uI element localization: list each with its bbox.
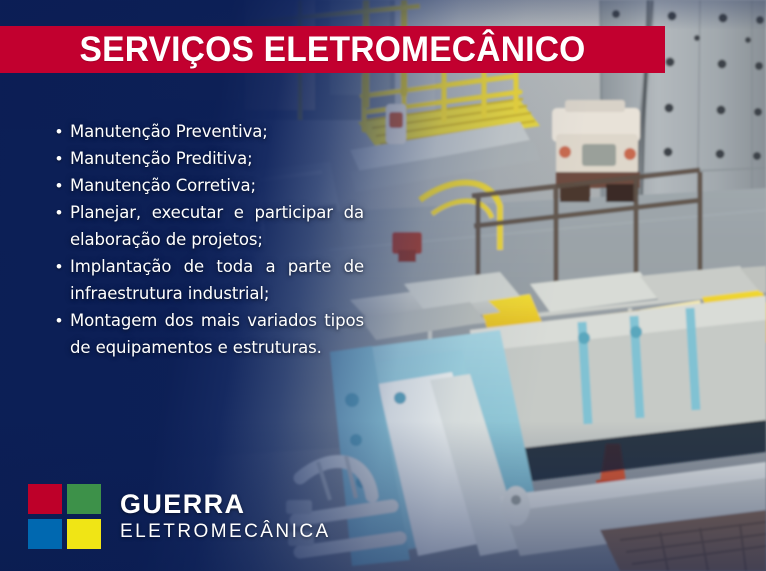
bullet-dot-icon: • bbox=[56, 118, 70, 145]
bullet-dot-icon: • bbox=[56, 307, 70, 334]
list-item: • Planejar, executar e participar da ela… bbox=[56, 199, 364, 253]
logo-squares bbox=[28, 484, 101, 549]
title-banner: SERVIÇOS ELETROMECÂNICO bbox=[0, 26, 665, 73]
logo-square-red bbox=[28, 484, 62, 514]
list-item: • Manutenção Corretiva; bbox=[56, 172, 364, 199]
list-item-label: Manutenção Corretiva; bbox=[70, 172, 364, 199]
list-item: • Manutenção Preditiva; bbox=[56, 145, 364, 172]
logo-wordmark: GUERRA ELETROMECÂNICA bbox=[120, 489, 331, 545]
list-item: • Implantação de toda a parte de infraes… bbox=[56, 253, 364, 307]
logo-square-green bbox=[67, 484, 101, 514]
services-list: • Manutenção Preventiva; • Manutenção Pr… bbox=[56, 118, 364, 361]
page-title: SERVIÇOS ELETROMECÂNICO bbox=[13, 26, 651, 73]
logo-square-yellow bbox=[67, 519, 101, 549]
presentation-slide: SERVIÇOS ELETROMECÂNICO • Manutenção Pre… bbox=[0, 0, 766, 571]
logo-company-subtitle: ELETROMECÂNICA bbox=[120, 519, 331, 545]
list-item-label: Planejar, executar e participar da elabo… bbox=[70, 199, 364, 253]
list-item-label: Montagem dos mais variados tipos de equi… bbox=[70, 307, 364, 361]
company-logo: GUERRA ELETROMECÂNICA bbox=[28, 484, 331, 549]
bullet-dot-icon: • bbox=[56, 145, 70, 172]
list-item-label: Implantação de toda a parte de infraestr… bbox=[70, 253, 364, 307]
list-item-label: Manutenção Preditiva; bbox=[70, 145, 364, 172]
bullet-dot-icon: • bbox=[56, 199, 70, 226]
list-item-label: Manutenção Preventiva; bbox=[70, 118, 364, 145]
list-item: • Montagem dos mais variados tipos de eq… bbox=[56, 307, 364, 361]
list-item: • Manutenção Preventiva; bbox=[56, 118, 364, 145]
bullet-dot-icon: • bbox=[56, 253, 70, 280]
bullet-dot-icon: • bbox=[56, 172, 70, 199]
logo-square-blue bbox=[28, 519, 62, 549]
logo-company-name: GUERRA bbox=[120, 489, 331, 519]
